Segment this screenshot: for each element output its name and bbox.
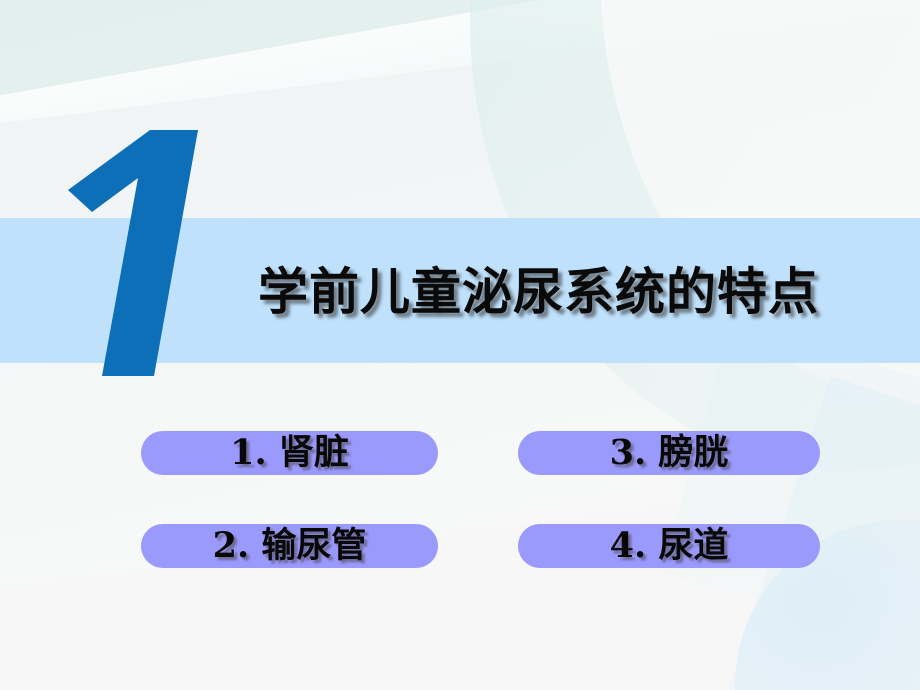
list-item-urethra[interactable]: 4. 尿道 bbox=[518, 524, 820, 568]
list-item-ureter[interactable]: 2. 输尿管 bbox=[141, 524, 438, 568]
page-title: 学前儿童泌尿系统的特点 bbox=[258, 258, 819, 326]
list-item-label: 2. 输尿管 bbox=[141, 516, 438, 576]
slide-number-1 bbox=[58, 128, 233, 378]
list-item-label: 3. 膀胱 bbox=[518, 423, 820, 483]
background-sliver-middle-right bbox=[660, 324, 920, 657]
list-item-label: 1. 肾脏 bbox=[141, 423, 438, 483]
list-item-bladder[interactable]: 3. 膀胱 bbox=[518, 431, 820, 475]
list-item-label: 4. 尿道 bbox=[518, 516, 820, 576]
presentation-slide: 学前儿童泌尿系统的特点 1. 肾脏 2. 输尿管 3. 膀胱 4. 尿道 bbox=[0, 0, 920, 690]
list-item-kidney[interactable]: 1. 肾脏 bbox=[141, 431, 438, 475]
